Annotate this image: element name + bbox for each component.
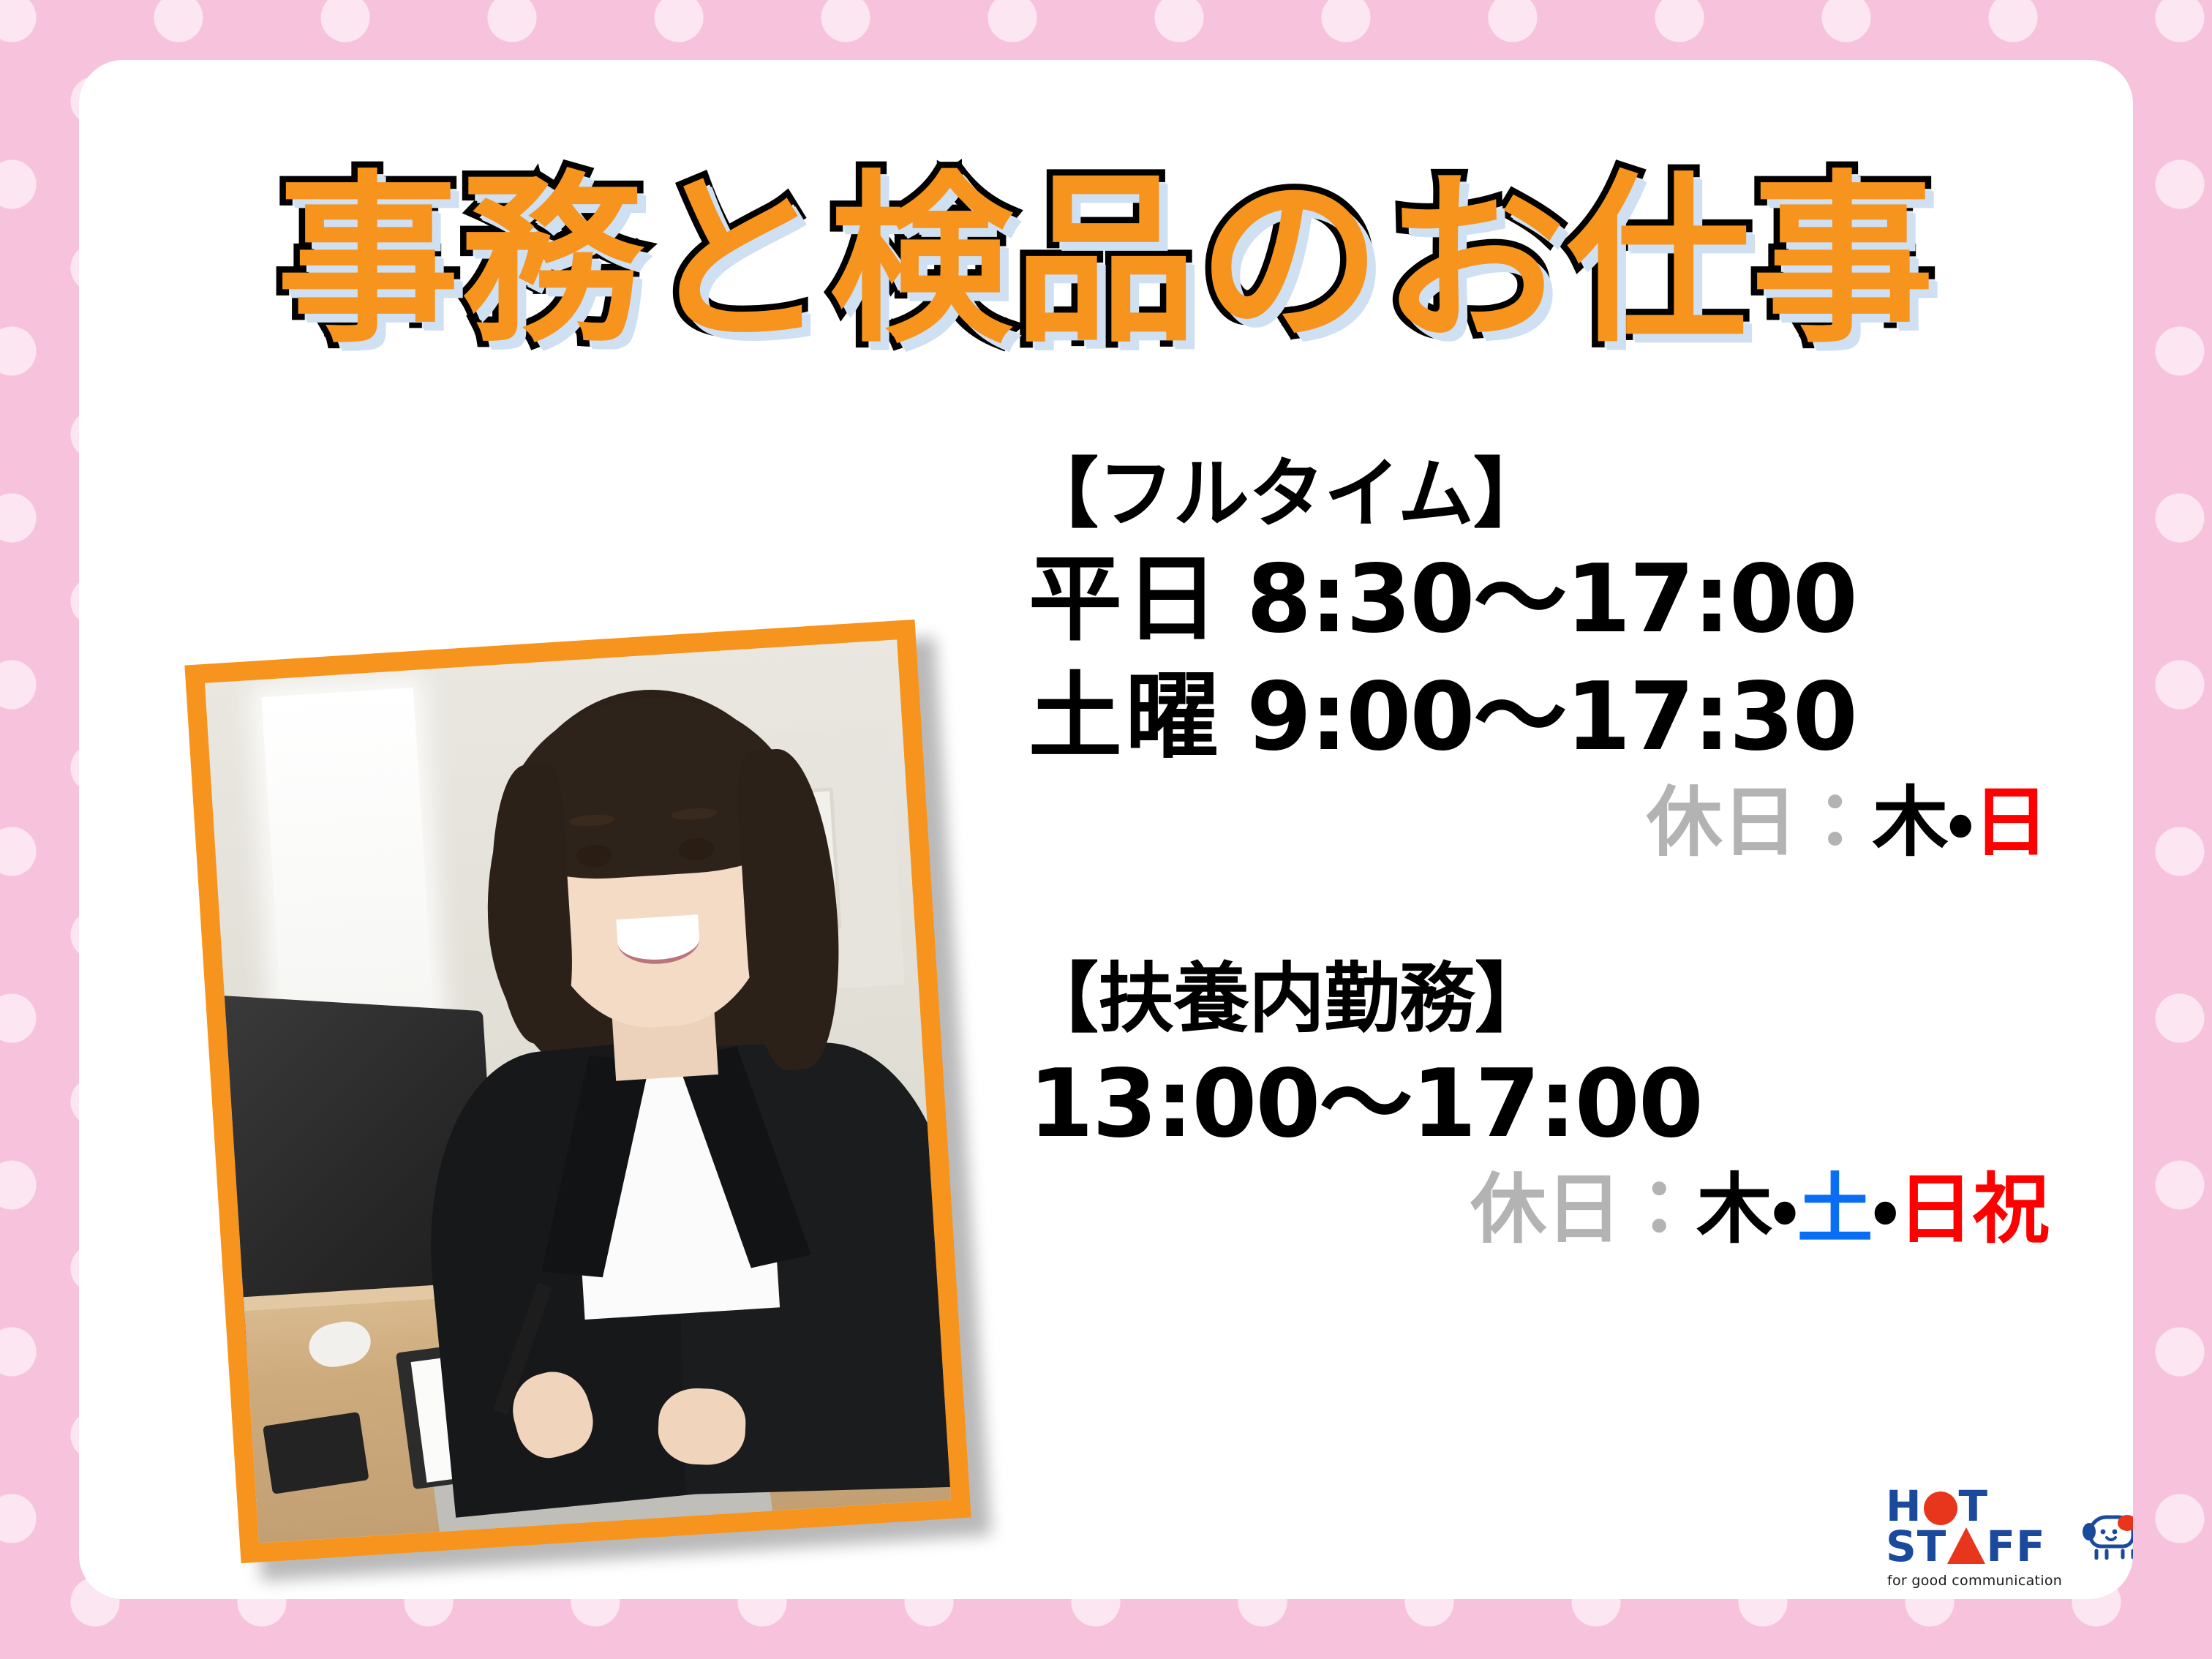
- parttime-row-hours: 13:00〜17:00: [1023, 1045, 2105, 1163]
- fulltime-heading: 【フルタイム】: [1023, 448, 2105, 541]
- parttime-holiday-sep-1: ・: [1873, 1165, 1897, 1254]
- poster-card: 事務と検品のお仕事: [79, 60, 2133, 1599]
- fulltime-holiday-day-0: 木: [1873, 778, 1948, 867]
- logo-line-staff: STFF: [1886, 1527, 2070, 1567]
- logo-tagline: for good communication: [1887, 1573, 2062, 1589]
- parttime-holiday-line: 休日：木・土・日祝: [1023, 1163, 2105, 1256]
- logo-a-triangle-icon: [1947, 1527, 1985, 1564]
- logo-wordmark: HT STFF: [1886, 1486, 2070, 1566]
- office-photo: [205, 639, 951, 1543]
- parttime-heading: 【扶養内勤務】: [1023, 952, 2105, 1045]
- logo-letters-ff: FF: [1986, 1521, 2045, 1571]
- logo-line-hot: HT: [1886, 1486, 2070, 1527]
- fulltime-block: 【フルタイム】 平日8:30〜17:00 土曜9:00〜17:30 休日：木・日: [1023, 448, 2105, 869]
- fulltime-saturday-hours: 9:00〜17:30: [1246, 663, 1856, 772]
- schedule-info: 【フルタイム】 平日8:30〜17:00 土曜9:00〜17:30 休日：木・日…: [1023, 448, 2105, 1260]
- parttime-holiday-sep-0: ・: [1772, 1165, 1797, 1254]
- parttime-holiday-label: 休日: [1470, 1165, 1621, 1254]
- fulltime-weekday-label: 平日: [1028, 545, 1222, 654]
- page-title-wrap: 事務と検品のお仕事: [79, 164, 2133, 358]
- logo-letter-t: T: [1959, 1481, 1989, 1531]
- photo-frame: [184, 620, 971, 1563]
- fulltime-holiday-line: 休日：木・日: [1023, 776, 2105, 869]
- logo-letters-st: ST: [1886, 1521, 1946, 1571]
- hot-staff-logo: HT STFF for good communication: [1886, 1486, 2133, 1596]
- section-spacer: [1023, 873, 2105, 952]
- parttime-holiday-day-2: 日祝: [1897, 1165, 2048, 1254]
- fulltime-row-weekday: 平日8:30〜17:00: [1023, 541, 2105, 658]
- page-title: 事務と検品のお仕事: [276, 164, 1935, 358]
- fulltime-weekday-hours: 8:30〜17:00: [1246, 545, 1856, 654]
- fulltime-row-saturday: 土曜9:00〜17:30: [1023, 658, 2105, 776]
- poster-background: 事務と検品のお仕事: [0, 0, 2212, 1659]
- photo-person-hand-right: [657, 1387, 747, 1467]
- fulltime-holiday-colon: ：: [1797, 778, 1873, 867]
- parttime-block: 【扶養内勤務】 13:00〜17:00 休日：木・土・日祝: [1023, 952, 2105, 1256]
- fulltime-holiday-day-1: 日: [1973, 778, 2048, 867]
- dog-mascot-icon: [2074, 1500, 2133, 1567]
- parttime-holiday-day-1: 土: [1797, 1165, 1873, 1254]
- parttime-holiday-day-0: 木: [1696, 1165, 1772, 1254]
- logo-o-dot-icon: [1924, 1491, 1957, 1525]
- photo-tablet: [263, 1412, 369, 1494]
- parttime-hours: 13:00〜17:00: [1028, 1050, 1702, 1159]
- fulltime-saturday-label: 土曜: [1028, 663, 1222, 772]
- fulltime-holiday-label: 休日: [1647, 778, 1797, 867]
- photo-person: [385, 657, 951, 1532]
- parttime-holiday-colon: ：: [1621, 1165, 1696, 1254]
- fulltime-holiday-sep-0: ・: [1948, 778, 1973, 867]
